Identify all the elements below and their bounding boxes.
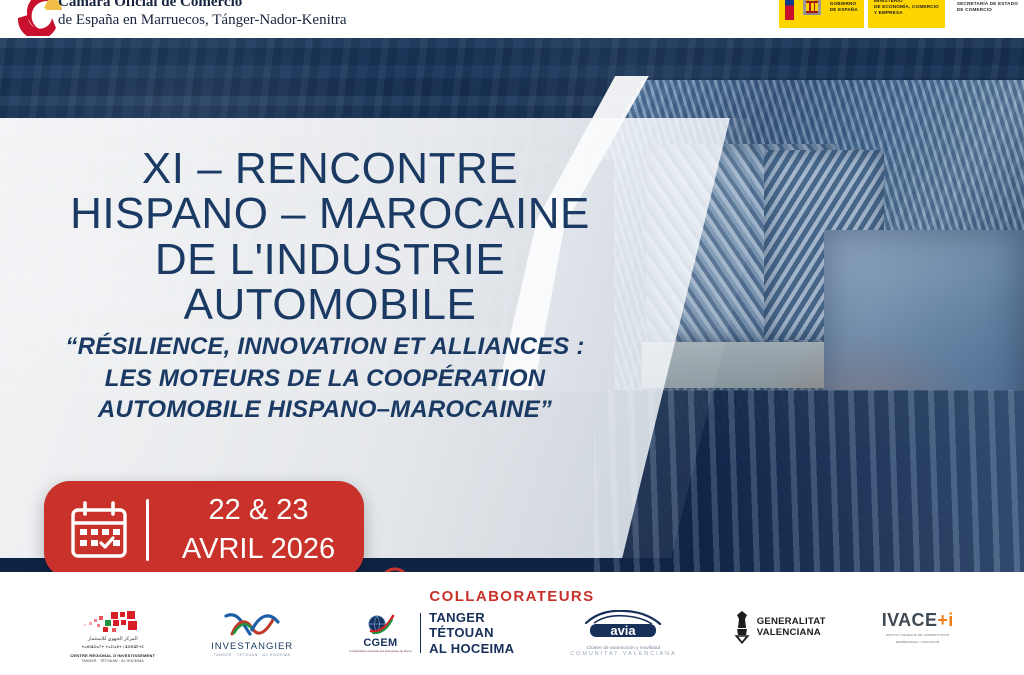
logo-blue-mark[interactable]: ▬ <box>673 670 690 675</box>
collaborator-logos-row-2: ●● ●● ▬ <box>0 670 1024 675</box>
spain-coat-of-arms-icon <box>799 0 825 20</box>
cgem-city-line-1: TANGER <box>429 610 514 625</box>
logo-cri-tanger[interactable]: المركز الجهوي للاستثمار ⵜⴰⵙⵏⵓⵔⴰⵢⵜ ⵜⴰⵎⵏⴰⴹ… <box>70 610 155 664</box>
calendar-check-icon <box>68 499 130 561</box>
avia-car-icon: avia <box>582 610 664 644</box>
logo-ivace[interactable]: IVACE+i INSTITUT VALENCIÀ DE COMPETITIVI… <box>882 610 954 644</box>
spain-flag-icon <box>785 0 794 20</box>
investangier-region: TANGER · TETOUAN · AL HOCEIMA <box>214 653 291 657</box>
generalitat-row: GENERALITAT VALENCIANA <box>733 610 826 644</box>
secretaria-label: SECRETARÍA DE ESTADODE COMERCIO <box>957 1 1018 13</box>
logo-generalitat-valenciana[interactable]: GENERALITAT VALENCIANA <box>733 610 826 644</box>
page-title: XI – RENCONTRE HISPANO – MAROCAINE DE L'… <box>0 146 660 327</box>
avia-line-2: COMUNITAT VALENCIANA <box>570 651 676 657</box>
title-line-2: HISPANO – MAROCAINE <box>0 191 660 236</box>
cgem-city-line-3: AL HOCEIMA <box>429 641 514 656</box>
badge-divider <box>146 499 149 561</box>
ivace-word: IVACE <box>882 610 938 630</box>
hero-section: XI – RENCONTRE HISPANO – MAROCAINE DE L'… <box>0 38 1024 572</box>
generalitat-text: GENERALITAT VALENCIANA <box>757 616 826 639</box>
venue-block: HÔTEL BARCELÓ TANGER <box>375 565 680 572</box>
investangier-name: INVESTANGIER <box>211 641 293 652</box>
title-line-4: AUTOMOBILE <box>0 282 660 327</box>
cgem-row: CGEM Confédération Générale des Entrepri… <box>349 610 514 656</box>
ivace-sub-2: EMPRESARIAL I INNOVACIÓ <box>896 640 939 645</box>
subtitle-line-2: LES MOTEURS DE LA COOPÉRATION <box>0 363 650 395</box>
cgem-left: CGEM Confédération Générale des Entrepri… <box>349 613 412 653</box>
subtitle-line-3: AUTOMOBILE HISPANO–MAROCAINE” <box>0 394 650 426</box>
collaborators-heading: COLLABORATEURS <box>0 572 1024 605</box>
date-line-2: AVRIL 2026 <box>169 530 348 568</box>
page-header: Cámara Oficial de Comercio de España en … <box>0 0 1024 38</box>
ivace-wordmark: IVACE+i <box>882 610 954 631</box>
logo-grey-mark[interactable]: ●● <box>504 670 524 675</box>
cgem-divider <box>420 613 422 653</box>
ministerio-label: MINISTERIODE ECONOMÍA, COMERCIOY EMPRESA <box>874 0 939 16</box>
investangier-mark-icon <box>224 610 280 640</box>
svg-text:avia: avia <box>611 623 637 638</box>
cgem-city-line-2: TÉTOUAN <box>429 625 514 640</box>
event-dates: 22 & 23 AVRIL 2026 <box>169 491 348 568</box>
secretaria-estado-logo: SECRETARÍA DE ESTADODE COMERCIO <box>949 0 1024 28</box>
cri-arabic: المركز الجهوي للاستثمار <box>88 636 138 642</box>
government-logos: GOBIERNODE ESPAÑA MINISTERIODE ECONOMÍA,… <box>779 0 1024 28</box>
page-subtitle: “RÉSILIENCE, INNOVATION ET ALLIANCES : L… <box>0 331 650 426</box>
location-pin-icon <box>375 565 415 572</box>
generalitat-line-1: GENERALITAT <box>757 616 826 628</box>
subtitle-line-1: “RÉSILIENCE, INNOVATION ET ALLIANCES : <box>0 331 650 363</box>
generalitat-bat-shield-icon <box>733 610 751 644</box>
generalitat-line-2: VALENCIANA <box>757 627 826 639</box>
cgem-tagline: Confédération Générale des Entreprises d… <box>349 649 412 653</box>
logo-red-mark[interactable]: ●● <box>334 670 354 675</box>
chamber-line-1: Cámara Oficial de Comercio <box>58 0 347 12</box>
cgem-word: CGEM <box>363 637 397 649</box>
logo-investangier[interactable]: INVESTANGIER TANGER · TETOUAN · AL HOCEI… <box>211 610 293 657</box>
title-line-1: XI – RENCONTRE <box>0 146 660 191</box>
cri-region: TANGER · TÉTOUAN · AL HOCEIMA <box>82 659 144 663</box>
gobierno-de-espana-logo: GOBIERNODE ESPAÑA <box>779 0 864 28</box>
title-line-3: DE L'INDUSTRIE <box>0 237 660 282</box>
event-poster: Cámara Oficial de Comercio de España en … <box>0 0 1024 675</box>
collaborator-logos: المركز الجهوي للاستثمار ⵜⴰⵙⵏⵓⵔⴰⵢⵜ ⵜⴰⵎⵏⴰⴹ… <box>0 610 1024 675</box>
cri-caption: CENTRE RÉGIONAL D'INVESTISSEMENT TANGER … <box>70 653 155 664</box>
cgem-city: TANGER TÉTOUAN AL HOCEIMA <box>429 610 514 656</box>
chamber-title: Cámara Oficial de Comercio de España en … <box>58 0 347 29</box>
cgem-globe-icon <box>365 613 395 637</box>
ivace-sub-1: INSTITUT VALENCIÀ DE COMPETITIVITAT <box>886 633 950 638</box>
collaborators-section: COLLABORATEURS <box>0 572 1024 675</box>
logo-cgem[interactable]: CGEM Confédération Générale des Entrepri… <box>349 610 514 656</box>
camara-swoosh-logo <box>12 0 64 36</box>
avia-line-1: Clúster de automoción y movilidad <box>587 645 661 650</box>
cri-mosaic-icon <box>81 610 145 636</box>
ministerio-logo: MINISTERIODE ECONOMÍA, COMERCIOY EMPRESA <box>868 0 945 28</box>
gobierno-label: GOBIERNODE ESPAÑA <box>830 1 858 13</box>
chamber-line-2: de España en Marruecos, Tánger-Nador-Ken… <box>58 12 347 30</box>
date-badge: 22 & 23 AVRIL 2026 <box>44 481 364 572</box>
cri-amazigh: ⵜⴰⵙⵏⵓⵔⴰⵢⵜ ⵜⴰⵎⵏⴰⴹⵜ ⵏ ⵓⵙⴼⵓⴽⵜⵉ <box>82 645 144 650</box>
logo-avia[interactable]: avia Clúster de automoción y movilidad C… <box>570 610 676 657</box>
title-block: XI – RENCONTRE HISPANO – MAROCAINE DE L'… <box>0 146 660 327</box>
ivace-plus: +i <box>937 610 953 630</box>
date-line-1: 22 & 23 <box>169 491 348 529</box>
